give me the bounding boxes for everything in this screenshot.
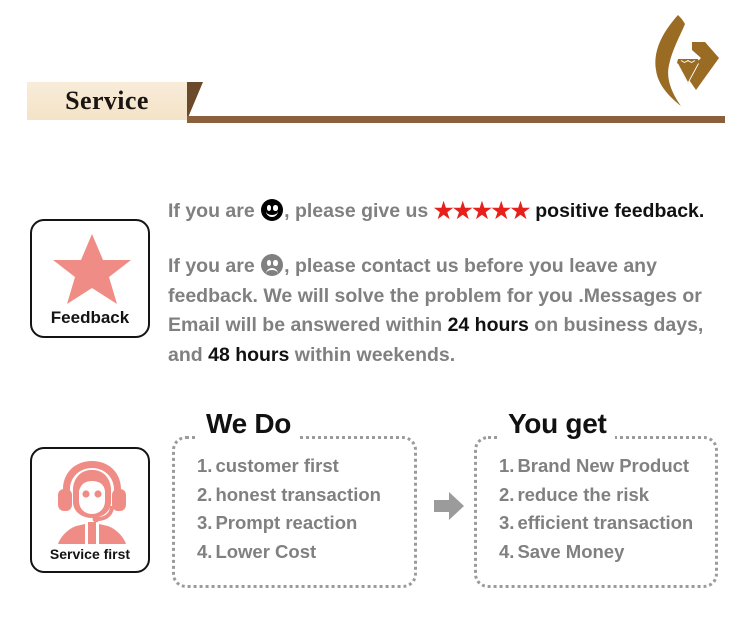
list-item: 3.Prompt reaction (197, 509, 381, 538)
line2-highlight-48-hours: 48 hours (208, 344, 289, 366)
banner-fold-triangle (187, 82, 203, 120)
feedback-card-label: Feedback (32, 308, 148, 328)
contact-us-paragraph: If you are , please contact us before yo… (168, 252, 724, 371)
we-do-panel: We Do 1.customer first 2.honest transact… (172, 436, 417, 588)
line1-highlight: positive feedback. (530, 200, 704, 222)
star-icon (53, 232, 131, 306)
we-do-list: 1.customer first 2.honest transaction 3.… (197, 452, 381, 567)
banner-horizontal-bar (187, 116, 725, 123)
you-get-panel: You get 1.Brand New Product 2.reduce the… (474, 436, 718, 588)
line2-part1: If you are (168, 255, 260, 277)
list-item-text: customer first (215, 455, 338, 476)
list-item: 2.reduce the risk (499, 481, 693, 510)
sad-face-icon (261, 254, 283, 276)
list-item-number: 3. (499, 512, 514, 533)
list-item-number: 2. (499, 484, 514, 505)
you-get-list: 1.Brand New Product 2.reduce the risk 3.… (499, 452, 693, 567)
list-item: 1.customer first (197, 452, 381, 481)
list-item-text: Brand New Product (517, 455, 689, 476)
right-arrow-icon (432, 489, 466, 523)
feedback-icon-card: Feedback (30, 219, 150, 338)
line2-part4: within weekends. (289, 344, 455, 366)
five-star-rating: ★★★★★ (434, 198, 530, 223)
line2-highlight-24-hours: 24 hours (448, 314, 529, 336)
service-first-icon-card: Service first (30, 447, 150, 573)
you-get-title: You get (499, 408, 615, 440)
headset-agent-icon (54, 458, 130, 544)
happy-face-icon (261, 199, 283, 221)
we-do-title: We Do (197, 408, 300, 440)
page-title: Service (27, 82, 187, 120)
positive-feedback-line: If you are , please give us ★★★★★ positi… (168, 194, 724, 227)
list-item: 1.Brand New Product (499, 452, 693, 481)
line1-after-emoji: , please give us (284, 200, 434, 222)
list-item-text: efficient transaction (517, 512, 693, 533)
service-banner: Service (0, 82, 750, 124)
list-item-text: honest transaction (215, 484, 381, 505)
list-item-text: Prompt reaction (215, 512, 357, 533)
banner-plate: Service (27, 82, 187, 120)
list-item-number: 4. (197, 541, 212, 562)
list-item-number: 1. (499, 455, 514, 476)
list-item: 3.efficient transaction (499, 509, 693, 538)
list-item: 4.Save Money (499, 538, 693, 567)
list-item-text: Lower Cost (215, 541, 316, 562)
list-item-number: 2. (197, 484, 212, 505)
list-item: 2.honest transaction (197, 481, 381, 510)
list-item-number: 4. (499, 541, 514, 562)
list-item-number: 3. (197, 512, 212, 533)
list-item: 4.Lower Cost (197, 538, 381, 567)
line1-before-emoji: If you are (168, 200, 260, 222)
service-first-card-label: Service first (32, 546, 148, 562)
list-item-text: reduce the risk (517, 484, 649, 505)
list-item-text: Save Money (517, 541, 624, 562)
list-item-number: 1. (197, 455, 212, 476)
